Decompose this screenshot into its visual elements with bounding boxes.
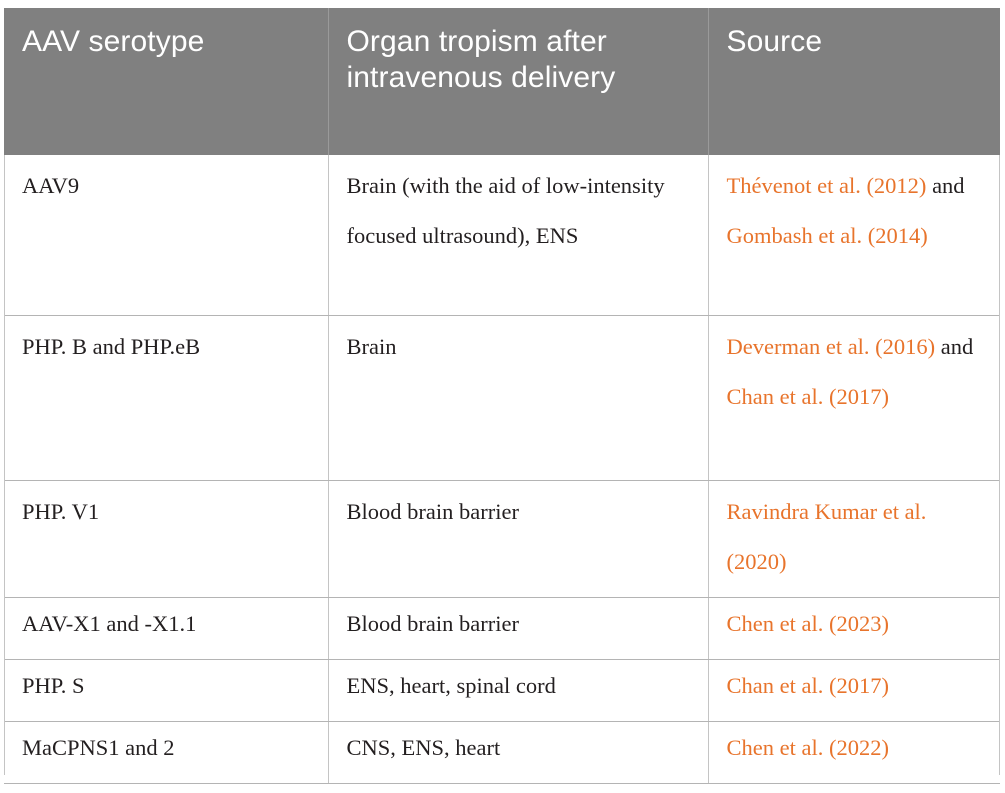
citation-link[interactable]: Thévenot et al. (2012)	[727, 173, 927, 198]
cell-serotype: PHP. V1	[4, 480, 328, 597]
table-row: AAV-X1 and -X1.1 Blood brain barrier Che…	[4, 597, 1000, 659]
cell-source: Ravindra Kumar et al. (2020)	[708, 480, 1000, 597]
table-left-border	[4, 155, 5, 775]
cell-source: Chan et al. (2017)	[708, 659, 1000, 721]
cell-organ-tropism: Brain	[328, 315, 708, 480]
cell-organ-tropism: Brain (with the aid of low-intensity foc…	[328, 155, 708, 315]
table-body: AAV9 Brain (with the aid of low-intensit…	[4, 155, 1000, 783]
table-row: MaCPNS1 and 2 CNS, ENS, heart Chen et al…	[4, 721, 1000, 783]
cell-serotype: PHP. S	[4, 659, 328, 721]
table-row: PHP. V1 Blood brain barrier Ravindra Kum…	[4, 480, 1000, 597]
table-row: PHP. S ENS, heart, spinal cord Chan et a…	[4, 659, 1000, 721]
table-row: PHP. B and PHP.eB Brain Deverman et al. …	[4, 315, 1000, 480]
aav-serotype-table-container: AAV serotype Organ tropism after intrave…	[4, 8, 1000, 784]
table-row: AAV9 Brain (with the aid of low-intensit…	[4, 155, 1000, 315]
citation-link[interactable]: Gombash et al. (2014)	[727, 223, 928, 248]
table-header: AAV serotype Organ tropism after intrave…	[4, 8, 1000, 155]
citation-conjunction: and	[926, 173, 964, 198]
aav-serotype-table: AAV serotype Organ tropism after intrave…	[4, 8, 1000, 784]
cell-source: Thévenot et al. (2012) and Gombash et al…	[708, 155, 1000, 315]
citation-conjunction: and	[935, 334, 973, 359]
cell-source: Chen et al. (2022)	[708, 721, 1000, 783]
cell-organ-tropism: Blood brain barrier	[328, 480, 708, 597]
column-header-serotype: AAV serotype	[4, 8, 328, 155]
cell-source: Deverman et al. (2016) and Chan et al. (…	[708, 315, 1000, 480]
cell-serotype: AAV9	[4, 155, 328, 315]
cell-serotype: MaCPNS1 and 2	[4, 721, 328, 783]
cell-serotype: AAV-X1 and -X1.1	[4, 597, 328, 659]
citation-link[interactable]: Deverman et al. (2016)	[727, 334, 936, 359]
citation-link[interactable]: Ravindra Kumar et al. (2020)	[727, 499, 927, 574]
table-right-border	[999, 155, 1000, 775]
citation-link[interactable]: Chen et al. (2022)	[727, 735, 889, 760]
cell-organ-tropism: CNS, ENS, heart	[328, 721, 708, 783]
cell-serotype: PHP. B and PHP.eB	[4, 315, 328, 480]
cell-organ-tropism: ENS, heart, spinal cord	[328, 659, 708, 721]
column-header-organ-tropism: Organ tropism after intravenous delivery	[328, 8, 708, 155]
citation-link[interactable]: Chen et al. (2023)	[727, 611, 889, 636]
cell-organ-tropism: Blood brain barrier	[328, 597, 708, 659]
cell-source: Chen et al. (2023)	[708, 597, 1000, 659]
citation-link[interactable]: Chan et al. (2017)	[727, 384, 889, 409]
column-header-source: Source	[708, 8, 1000, 155]
table-header-row: AAV serotype Organ tropism after intrave…	[4, 8, 1000, 155]
citation-link[interactable]: Chan et al. (2017)	[727, 673, 889, 698]
